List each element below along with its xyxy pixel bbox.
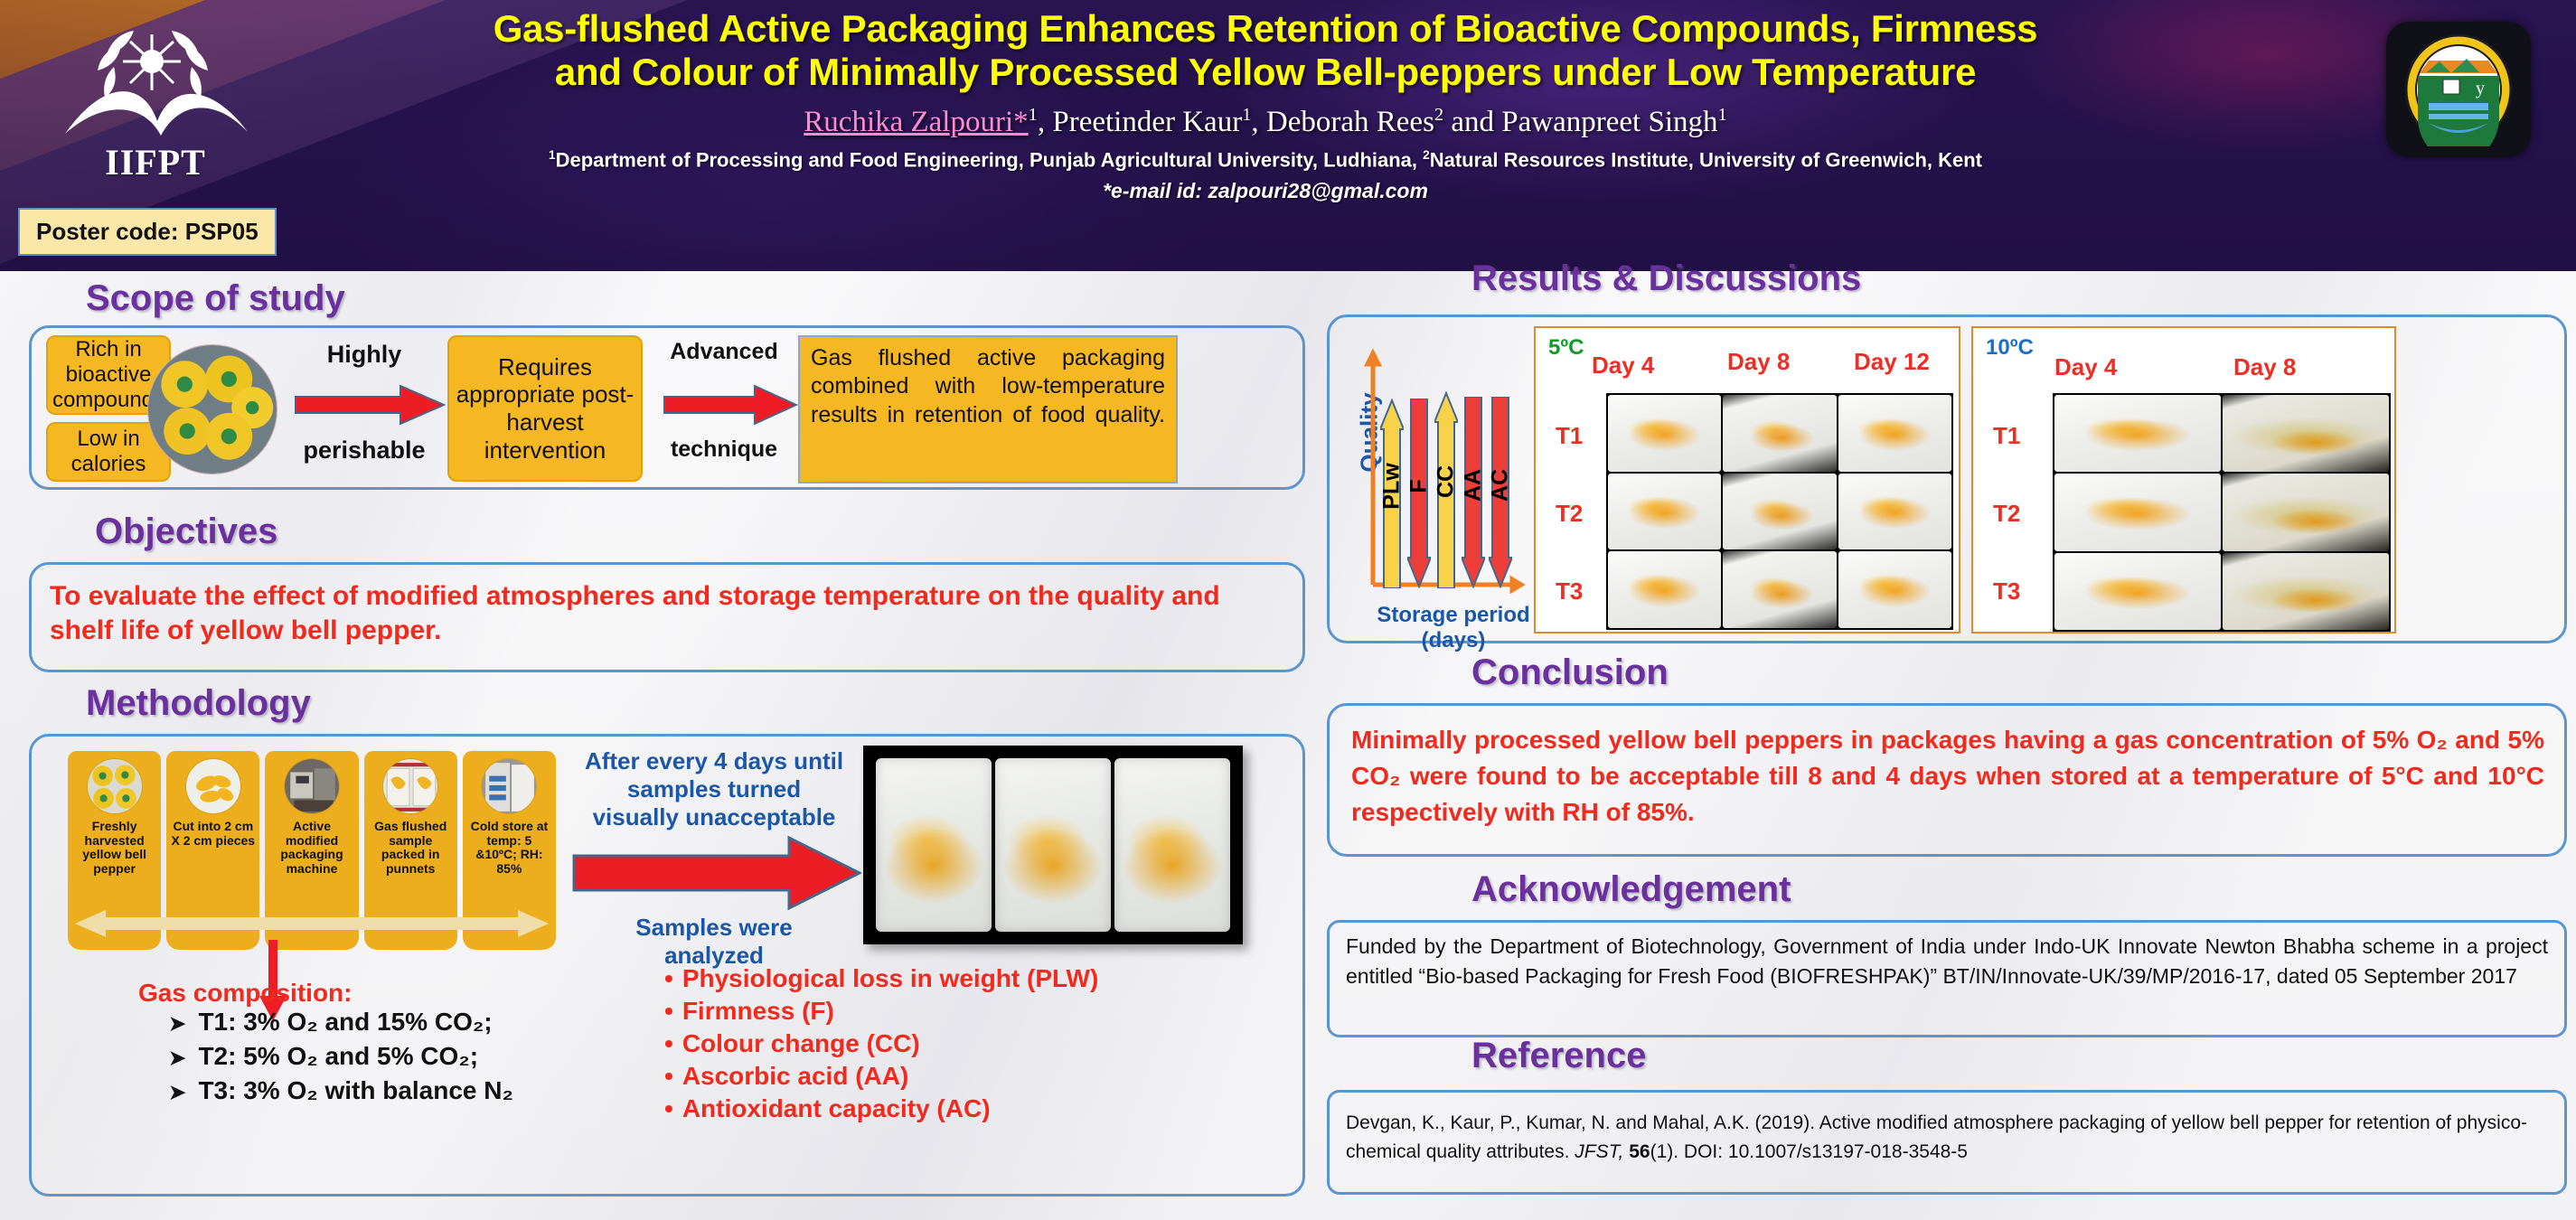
list-item: T2: 5% O₂ and 5% CO₂;	[169, 1042, 513, 1071]
list-item: Antioxidant capacity (AC)	[664, 1094, 1098, 1123]
chart-arrow-plw: PLw	[1380, 399, 1404, 588]
sample-photo-t1-day12	[1838, 395, 1951, 472]
column-header-day8: Day 8	[2233, 353, 2296, 381]
results-image-grid-5c: 5ºC Day 4 Day 8 Day 12 T1 T2 T3	[1534, 326, 1960, 633]
list-item: Colour change (CC)	[664, 1029, 1098, 1058]
column-header-day4: Day 4	[2054, 353, 2117, 381]
conclusion-panel: Minimally processed yellow bell peppers …	[1327, 703, 2567, 857]
temperature-label-5c: 5ºC	[1548, 335, 1584, 361]
acknowledgement-text: Funded by the Department of Biotechnolog…	[1346, 932, 2548, 992]
methodology-after-text: After every 4 days until samples turned …	[583, 747, 845, 832]
sample-photo-t2-day12	[1838, 474, 1951, 550]
chart-arrow-aa: AA	[1462, 397, 1485, 588]
flow-bidirectional-arrow-icon	[75, 908, 549, 939]
bell-pepper-icon	[148, 345, 277, 474]
sample-photo-t1-day8	[2223, 395, 2389, 472]
chart-arrow-cc: CC	[1434, 391, 1458, 588]
flow-step-label: Active modified packaging machine	[265, 820, 358, 877]
sample-photo-t3-day8	[1723, 551, 1836, 628]
punnet-sample	[876, 758, 992, 932]
scope-box-gas-flushed: Gas flushed active packaging combined wi…	[798, 335, 1178, 483]
poster-title-line-1: Gas-flushed Active Packaging Enhances Re…	[494, 7, 2037, 50]
reference-journal: JFST,	[1575, 1141, 1623, 1162]
chart-arrow-label: AC	[1488, 468, 1514, 501]
reference-panel: Devgan, K., Kaur, P., Kumar, N. and Maha…	[1327, 1090, 2567, 1195]
sample-photo-t1-day4	[2054, 395, 2221, 472]
section-title-scope: Scope of study	[86, 280, 345, 316]
scope-connector-technique: technique	[655, 436, 793, 463]
results-panel: Quality PLw F CC AA	[1327, 314, 2567, 643]
poster-code-badge: Poster code: PSP05	[18, 208, 277, 256]
scope-arrow-2-icon	[663, 384, 798, 426]
iifpt-logo-text: IIFPT	[56, 141, 255, 183]
flow-step-label: Cold store at temp: 5 &10ºC; RH: 85%	[463, 820, 556, 877]
header-text-block: Gas-flushed Active Packaging Enhances Re…	[325, 7, 2205, 203]
scope-panel: Rich in bioactive compounds Low in calor…	[29, 325, 1305, 490]
chart-arrow-f: F	[1407, 399, 1431, 588]
contact-email[interactable]: *e-mail id: zalpouri28@gmal.com	[325, 179, 2205, 203]
reference-part-2: (1). DOI: 10.1007/s13197-018-3548-5	[1650, 1141, 1968, 1162]
cold-store-photo	[481, 758, 537, 814]
chart-arrow-label: F	[1406, 479, 1433, 493]
chart-arrow-label: PLw	[1379, 463, 1406, 509]
scope-box-requires: Requires appropriate post-harvest interv…	[447, 335, 643, 482]
reference-volume: 56	[1629, 1141, 1650, 1162]
list-item: T3: 3% O₂ with balance N₂	[169, 1076, 513, 1105]
row-header-t2: T2	[1993, 500, 2020, 528]
list-item: Physiological loss in weight (PLW)	[664, 964, 1098, 993]
column-header-day8: Day 8	[1727, 348, 1790, 376]
acknowledgement-panel: Funded by the Department of Biotechnolog…	[1327, 920, 2567, 1037]
author-lead-superscript: 1	[1029, 105, 1038, 125]
affiliations: 1Department of Processing and Food Engin…	[325, 148, 2205, 172]
pau-logo: y	[2386, 22, 2531, 157]
scope-connector-perishable: perishable	[283, 436, 446, 465]
sample-photo-grid	[2053, 393, 2391, 632]
flow-step-label: Cut into 2 cm X 2 cm pieces	[166, 820, 259, 848]
objectives-panel: To evaluate the effect of modified atmos…	[29, 562, 1305, 672]
row-header-t1: T1	[1556, 422, 1583, 450]
scope-connector-highly: Highly	[292, 341, 437, 369]
author-list: Ruchika Zalpouri*1, Preetinder Kaur1, De…	[325, 105, 2205, 139]
sample-photo-t1-day4	[1608, 395, 1721, 472]
objectives-text: To evaluate the effect of modified atmos…	[50, 579, 1261, 649]
conclusion-text: Minimally processed yellow bell peppers …	[1351, 722, 2544, 830]
chart-arrow-label: CC	[1434, 465, 1460, 498]
chart-arrow-ac: AC	[1489, 397, 1512, 588]
punjab-agricultural-university-seal-icon: y	[2402, 33, 2515, 146]
author-4-superscript: 1	[1718, 105, 1727, 125]
affil-2-superscript: 2	[1423, 148, 1430, 162]
section-title-acknowledgement: Acknowledgement	[1471, 871, 1791, 907]
analysis-parameters-list: Physiological loss in weight (PLW) Firmn…	[664, 964, 1098, 1127]
temperature-label-10c: 10ºC	[1986, 335, 2034, 361]
row-header-t2: T2	[1556, 500, 1583, 528]
scope-arrow-1-icon	[294, 384, 446, 426]
chart-xlabel: Storage period (days)	[1349, 603, 1557, 653]
affil-2: Natural Resources Institute, University …	[1430, 148, 1982, 171]
section-title-results: Results & Discussions	[1471, 260, 1861, 296]
chart-arrow-label: AA	[1461, 468, 1487, 501]
column-header-day12: Day 12	[1854, 348, 1930, 376]
sample-photo-t1-day8	[1723, 395, 1836, 472]
affil-1: Department of Processing and Food Engine…	[556, 148, 1424, 171]
poster-header: IIFPT y Gas-flushed Active Packaging Enh…	[0, 0, 2576, 271]
methodology-analyzed-text: Samples were analyzed	[583, 914, 845, 970]
page-title: Gas-flushed Active Packaging Enhances Re…	[325, 7, 2205, 94]
scope-connector-advanced: Advanced	[655, 339, 793, 365]
row-header-t3: T3	[1556, 577, 1583, 605]
flow-step-label: Gas flushed sample packed in punnets	[364, 820, 457, 877]
left-column: Scope of study Rich in bioactive compoun…	[0, 271, 1318, 1220]
punnet-photo	[382, 758, 438, 814]
packed-punnets-photo	[863, 746, 1243, 944]
flow-step-label: Freshly harvested yellow bell pepper	[68, 820, 161, 877]
section-title-reference: Reference	[1471, 1037, 1646, 1074]
section-title-conclusion: Conclusion	[1471, 654, 1669, 690]
right-column: Results & Discussions Quality PLw F CC	[1318, 271, 2576, 1220]
sample-photo-t3-day12	[1838, 551, 1951, 628]
gas-composition-list: T1: 3% O₂ and 15% CO₂; T2: 5% O₂ and 5% …	[169, 1008, 513, 1111]
sample-photo-t3-day4	[1608, 551, 1721, 628]
sample-photo-t2-day8	[2223, 474, 2389, 550]
reference-text: Devgan, K., Kaur, P., Kumar, N. and Maha…	[1346, 1109, 2548, 1166]
sample-photo-t2-day4	[2054, 474, 2221, 550]
methodology-big-arrow-icon	[572, 834, 861, 912]
list-item: Ascorbic acid (AA)	[664, 1062, 1098, 1091]
gas-composition-title: Gas composition:	[138, 979, 352, 1008]
results-image-grid-10c: 10ºC Day 4 Day 8 T1 T2 T3	[1971, 326, 2396, 633]
sample-photo-t3-day4	[2054, 553, 2221, 630]
row-header-t3: T3	[1993, 577, 2020, 605]
packaging-machine-photo	[284, 758, 340, 814]
sample-photo-t3-day8	[2223, 553, 2389, 630]
iifpt-emblem-icon	[56, 14, 255, 150]
row-header-t1: T1	[1993, 422, 2020, 450]
section-title-methodology: Methodology	[86, 685, 311, 721]
author-2: , Preetinder Kaur	[1038, 106, 1242, 138]
bell-pepper-photo	[147, 344, 277, 474]
sample-photo-t2-day8	[1723, 474, 1836, 550]
author-2-superscript: 1	[1242, 105, 1251, 125]
svg-text:y: y	[2476, 79, 2485, 99]
poster-title-line-2: and Colour of Minimally Processed Yellow…	[555, 51, 1976, 93]
bell-pepper-photo	[87, 758, 143, 814]
cut-pieces-photo	[185, 758, 241, 814]
column-header-day4: Day 4	[1592, 352, 1654, 380]
iifpt-logo: IIFPT	[56, 14, 255, 204]
affil-1-superscript: 1	[549, 148, 556, 162]
methodology-panel: Freshly harvested yellow bell pepper Cut…	[29, 734, 1305, 1197]
section-title-objectives: Objectives	[95, 513, 277, 549]
author-3-superscript: 2	[1434, 105, 1443, 125]
punnet-sample	[1114, 758, 1230, 932]
author-3: , Deborah Rees	[1251, 106, 1434, 138]
sample-photo-grid	[1606, 393, 1953, 630]
sample-photo-t2-day4	[1608, 474, 1721, 550]
punnet-sample	[995, 758, 1111, 932]
author-4: and Pawanpreet Singh	[1443, 106, 1717, 138]
list-item: T1: 3% O₂ and 15% CO₂;	[169, 1008, 513, 1037]
list-item: Firmness (F)	[664, 997, 1098, 1026]
quality-trend-chart: Quality PLw F CC AA	[1346, 328, 1527, 632]
corresponding-author: Ruchika Zalpouri*	[804, 106, 1028, 138]
